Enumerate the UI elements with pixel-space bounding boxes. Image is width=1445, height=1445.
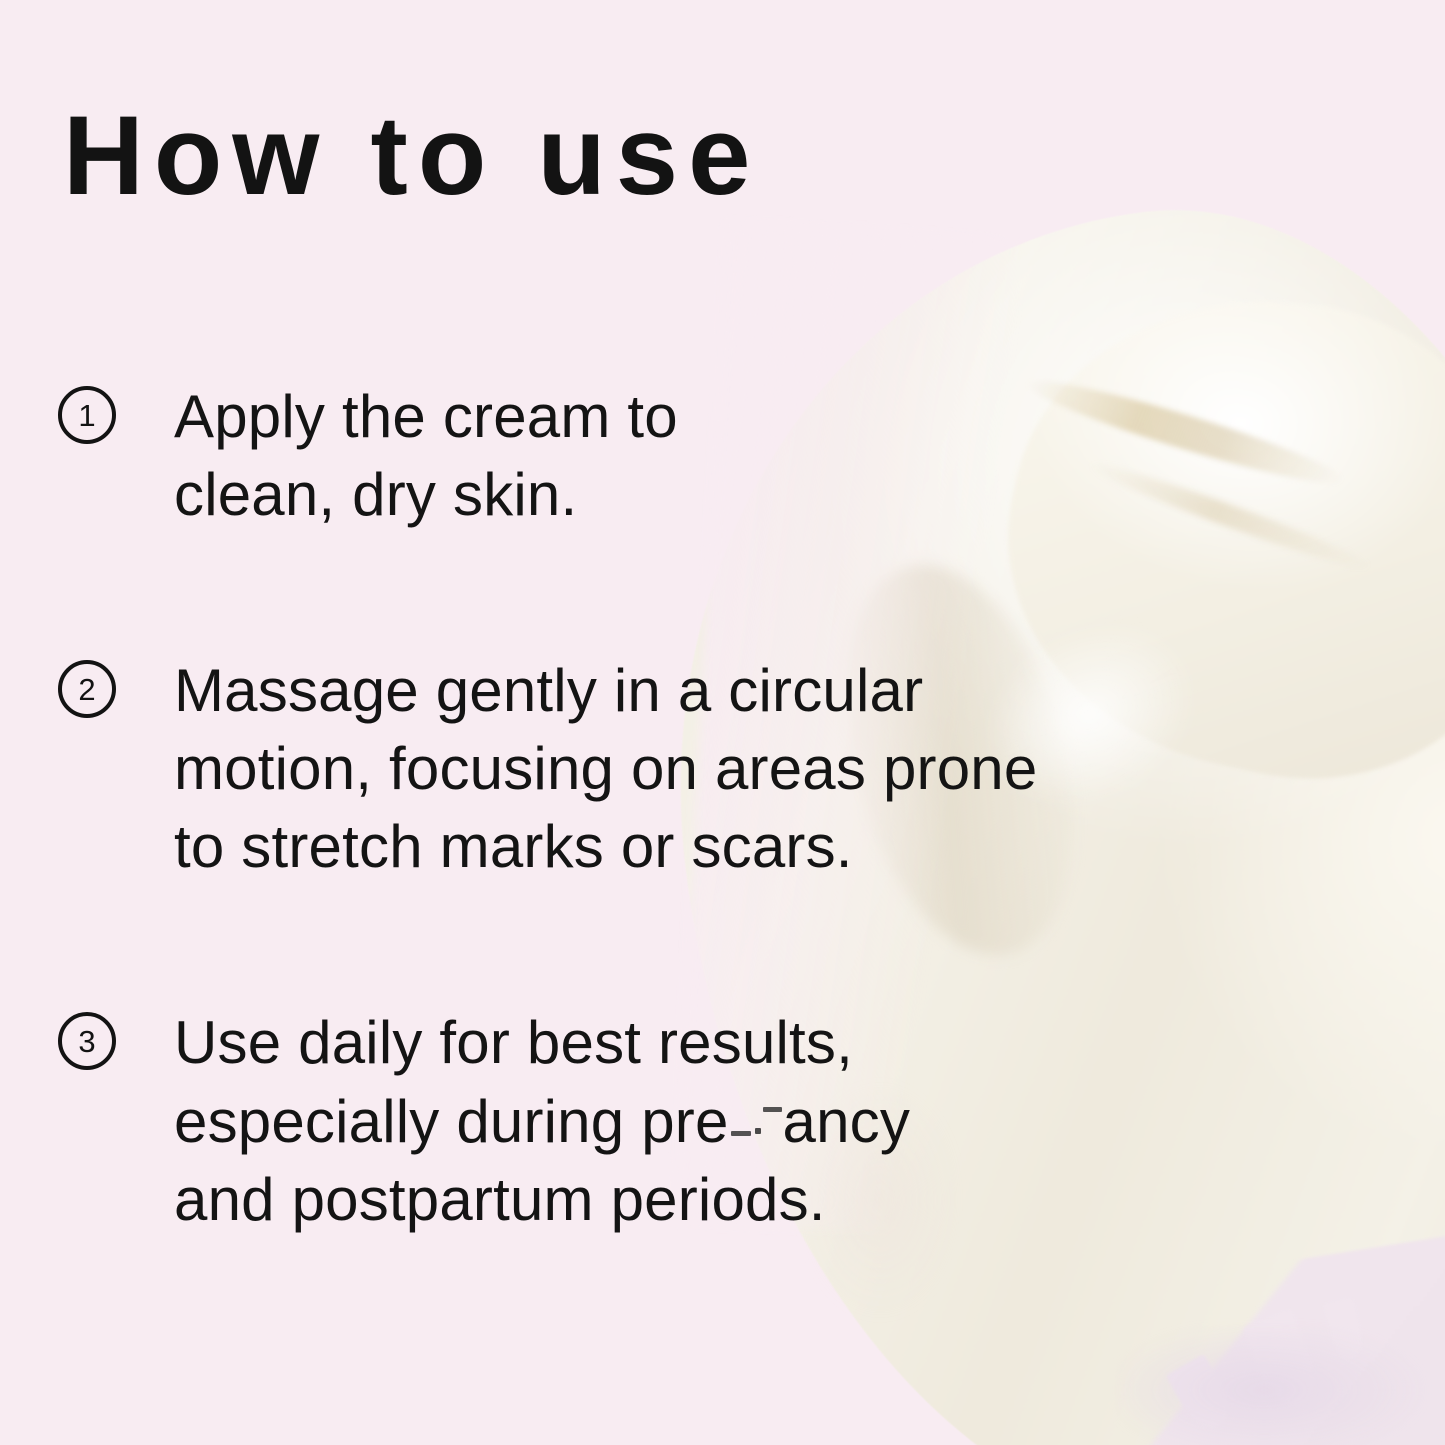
step-text-line: Use daily for best results, <box>174 1004 1340 1082</box>
step-text-line: clean, dry skin. <box>174 456 1340 534</box>
instructions-content: How to use 1 Apply the cream to clean, d… <box>0 0 1445 1445</box>
product-instructions-panel: How to use 1 Apply the cream to clean, d… <box>0 0 1445 1445</box>
step-number-badge: 2 <box>58 660 116 718</box>
step-text: Massage gently in a circular motion, foc… <box>174 652 1340 886</box>
step-text: Use daily for best results, especially d… <box>174 1004 1340 1239</box>
step-text: Apply the cream to clean, dry skin. <box>174 378 1340 534</box>
step-text-fragment: especially during pre <box>174 1088 729 1155</box>
step-text-line: to stretch marks or scars. <box>174 808 1340 886</box>
step-text-line: motion, focusing on areas prone <box>174 730 1340 808</box>
step-text-line-degraded: especially during preancy <box>174 1082 1340 1161</box>
step-number-badge: 1 <box>58 386 116 444</box>
step-text-line: and postpartum periods. <box>174 1161 1340 1239</box>
list-item: 2 Massage gently in a circular motion, f… <box>0 652 1340 886</box>
steps-list: 1 Apply the cream to clean, dry skin. 2 … <box>0 378 1340 1239</box>
list-item: 1 Apply the cream to clean, dry skin. <box>0 378 1340 534</box>
step-text-line: Apply the cream to <box>174 378 1340 456</box>
degraded-glyph-artifact <box>729 1082 783 1142</box>
step-text-line: Massage gently in a circular <box>174 652 1340 730</box>
page-title: How to use <box>63 100 760 212</box>
step-number-badge: 3 <box>58 1012 116 1070</box>
list-item: 3 Use daily for best results, especially… <box>0 1004 1340 1239</box>
step-text-fragment: ancy <box>783 1088 911 1155</box>
